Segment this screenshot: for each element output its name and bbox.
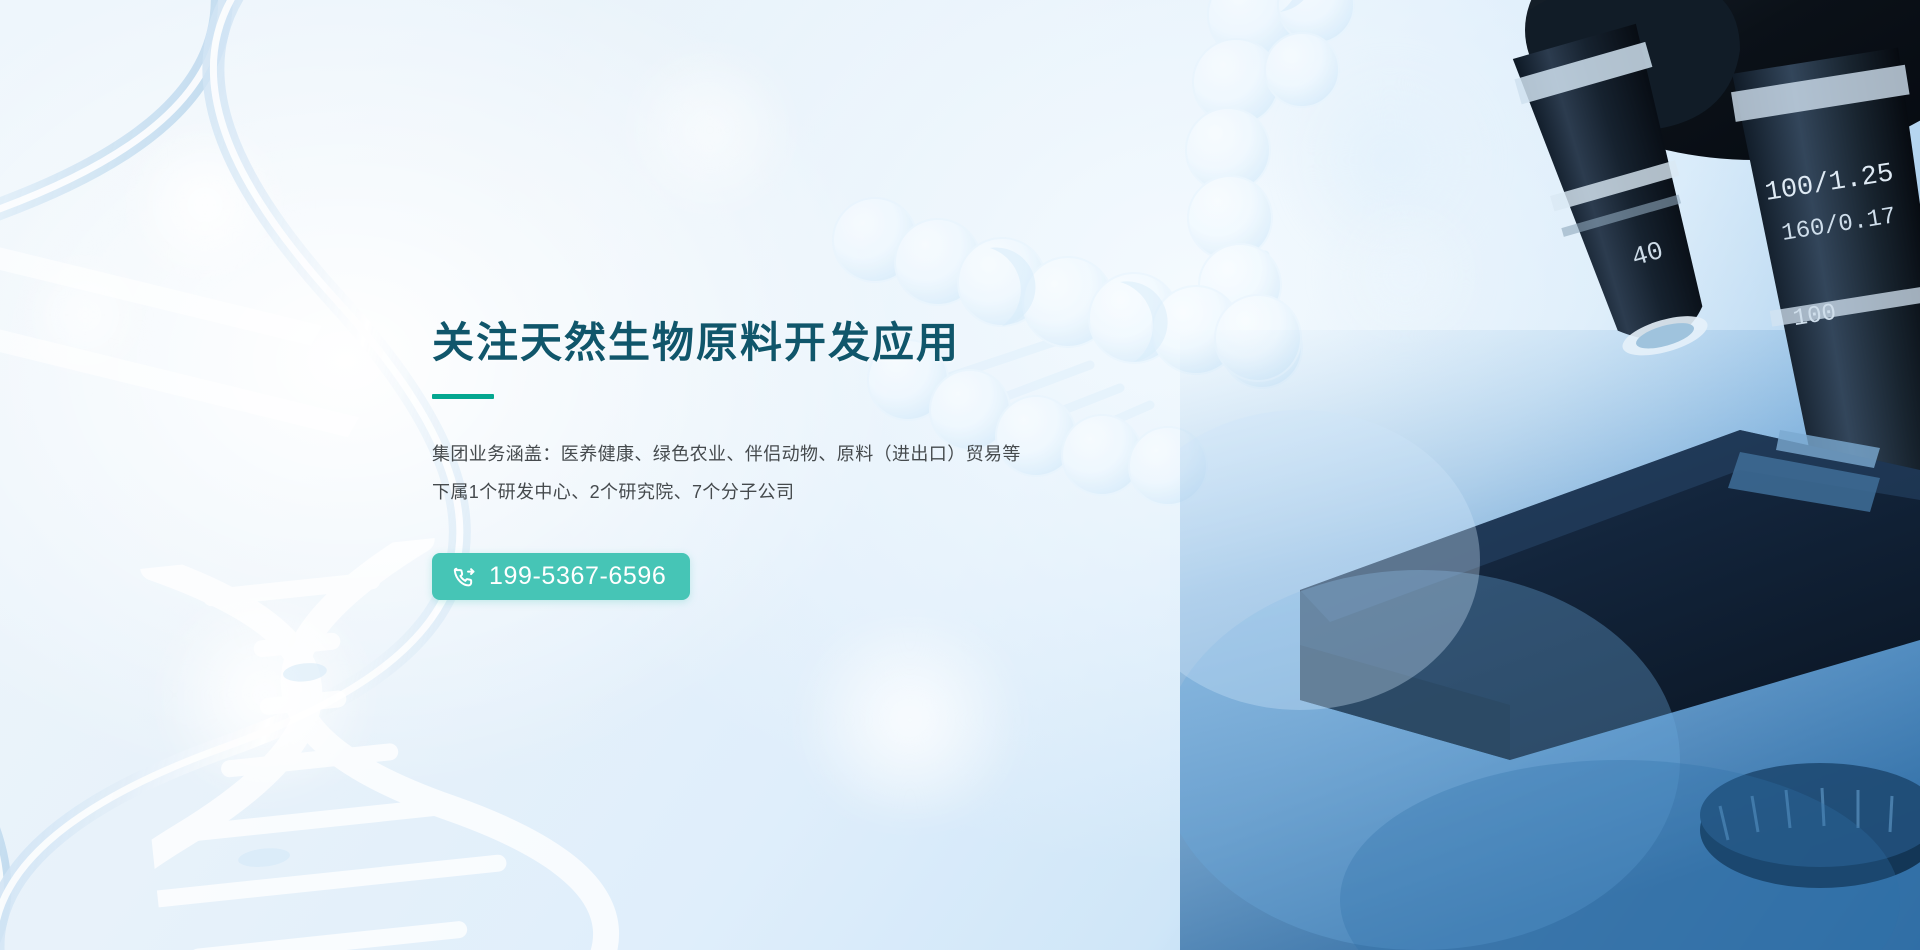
call-phone-button[interactable]: 199-5367-6596 <box>432 553 690 600</box>
bokeh-light <box>780 620 1040 820</box>
phone-number-label: 199-5367-6596 <box>489 564 666 589</box>
bokeh-light <box>120 120 290 290</box>
accent-divider <box>432 394 494 399</box>
hero-content: 关注天然生物原料开发应用 集团业务涵盖：医养健康、绿色农业、伴侣动物、原料（进出… <box>432 318 1192 600</box>
phone-forwarded-icon <box>452 564 477 589</box>
description-line-1: 集团业务涵盖：医养健康、绿色农业、伴侣动物、原料（进出口）贸易等 <box>432 435 1192 473</box>
hero-description: 集团业务涵盖：医养健康、绿色农业、伴侣动物、原料（进出口）贸易等 下属1个研发中… <box>432 435 1192 511</box>
bokeh-light <box>20 250 150 380</box>
hero-banner: 40 100/1.25 160/0.17 100 <box>0 0 1920 950</box>
page-title: 关注天然生物原料开发应用 <box>432 318 1192 368</box>
bokeh-light <box>150 580 380 810</box>
microscope-image: 40 100/1.25 160/0.17 100 <box>1180 0 1920 950</box>
bokeh-light <box>620 40 800 220</box>
description-line-2: 下属1个研发中心、2个研究院、7个分子公司 <box>432 473 1192 511</box>
